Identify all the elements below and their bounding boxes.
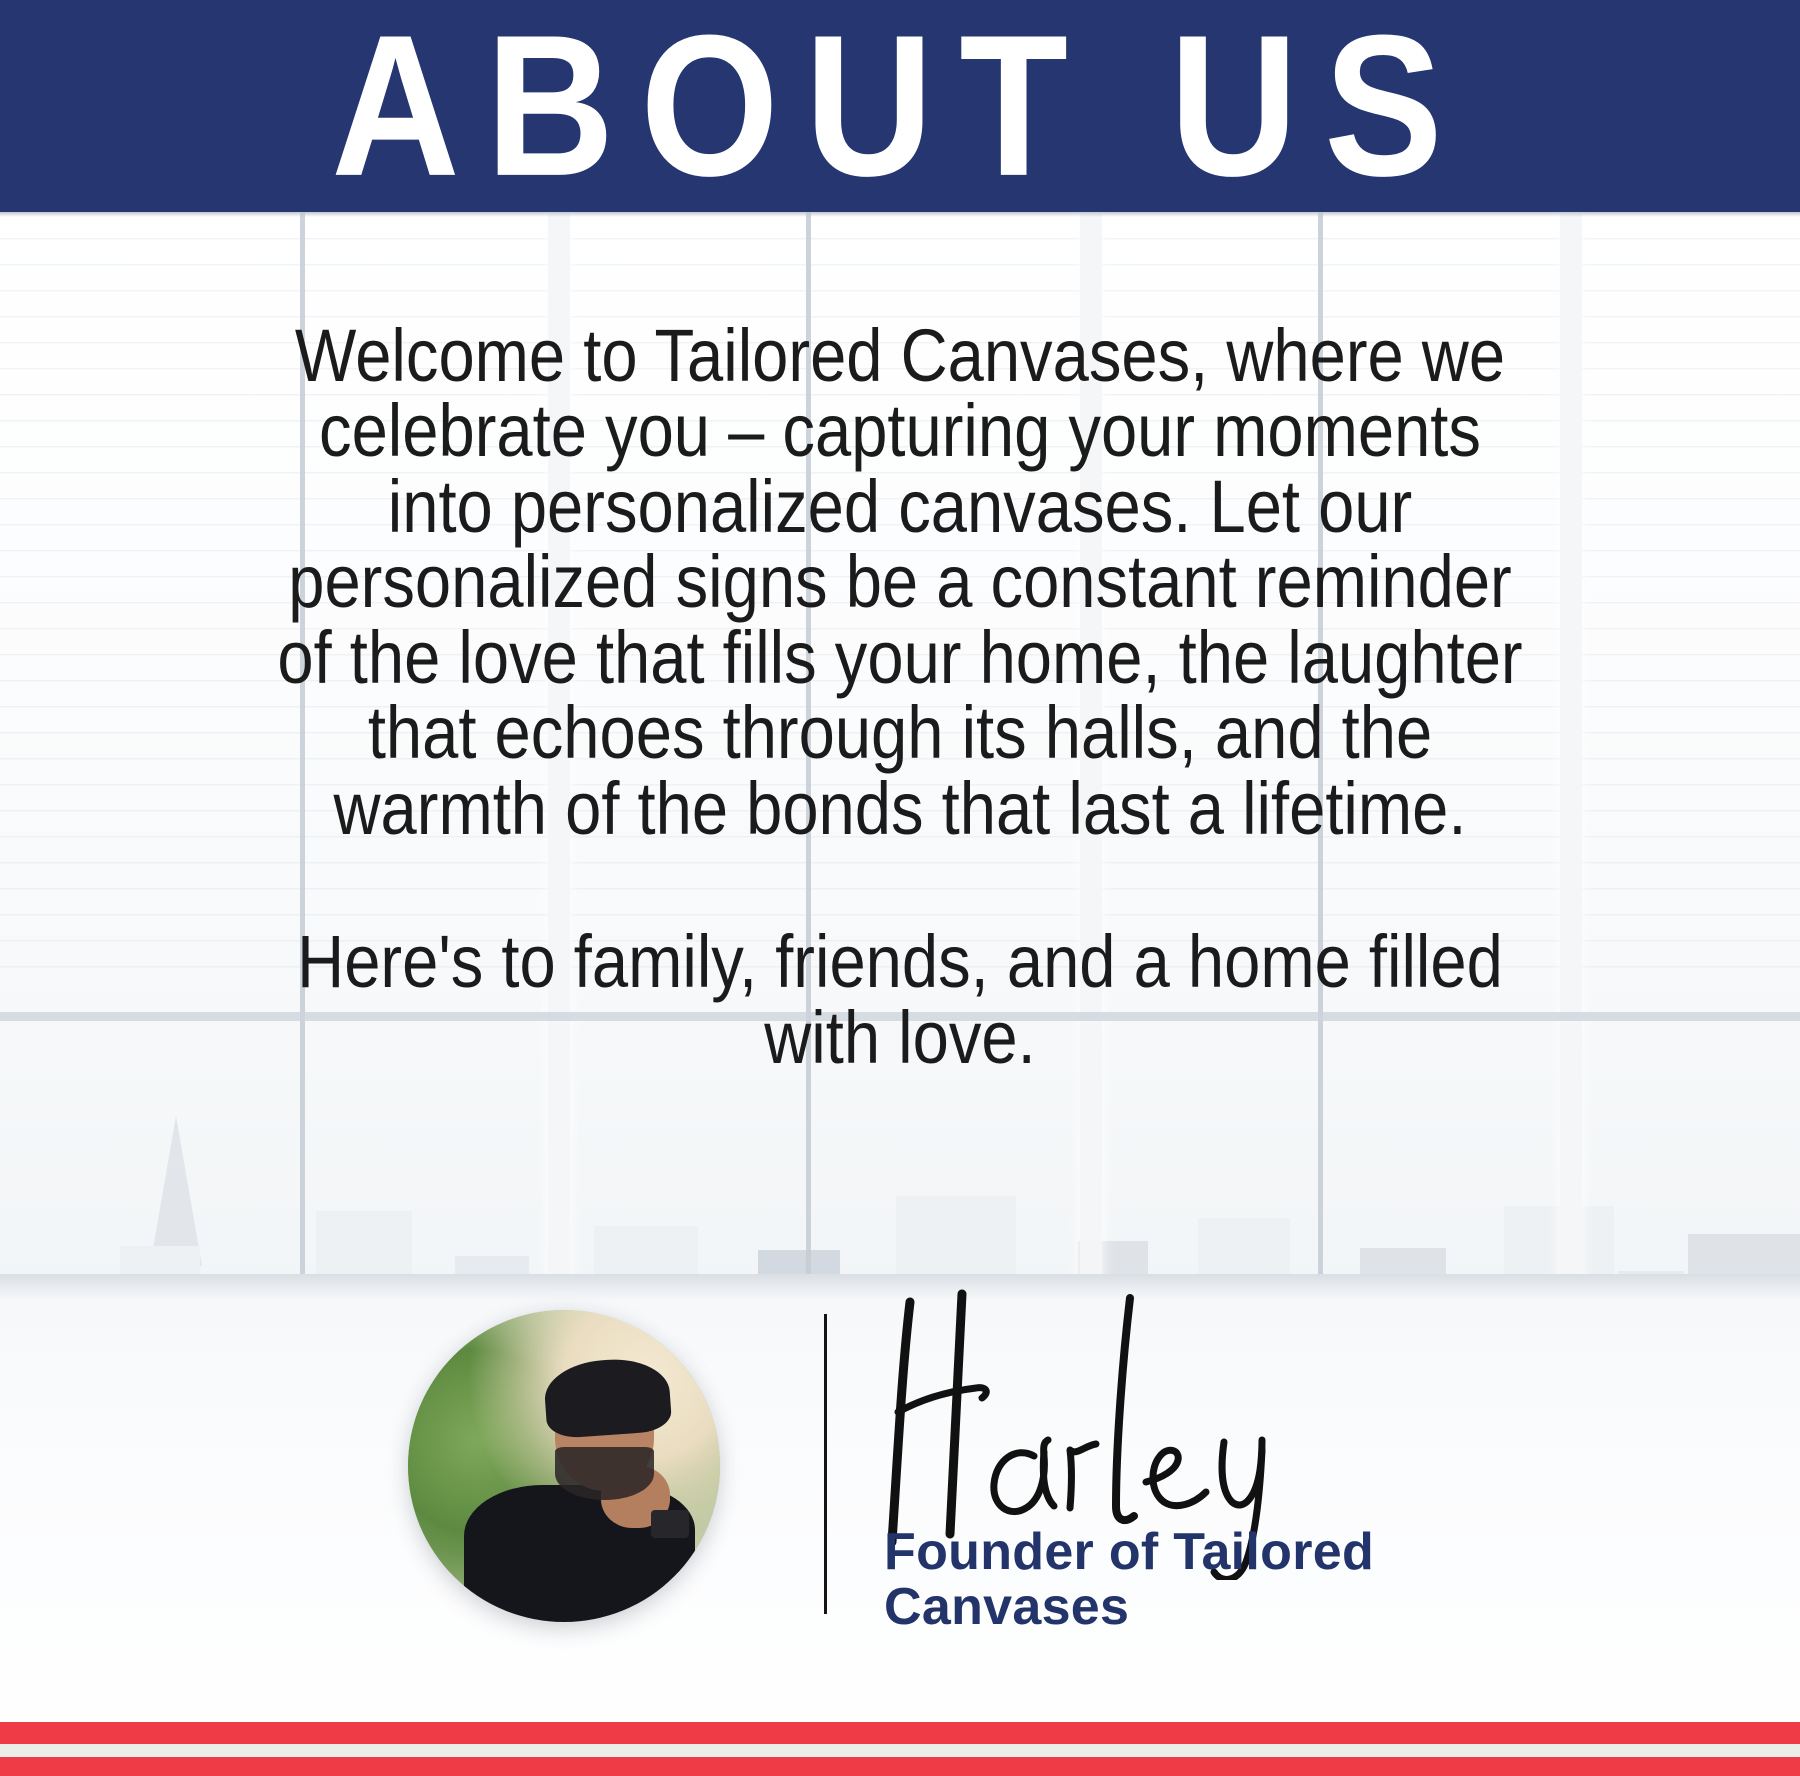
founder-role: Founder of Tailored Canvases	[884, 1525, 1504, 1635]
avatar-watch	[651, 1510, 688, 1538]
founder-role-line2: Canvases	[884, 1580, 1504, 1635]
about-paragraph-2: Here's to family, friends, and a home fi…	[275, 924, 1525, 1075]
header-underline	[0, 212, 1800, 217]
founder-role-line1: Founder of Tailored	[884, 1525, 1504, 1580]
about-paragraph-1: Welcome to Tailored Canvases, where we c…	[275, 318, 1525, 846]
signature-block: Founder of Tailored Canvases	[0, 1290, 1800, 1690]
about-body-text: Welcome to Tailored Canvases, where we c…	[190, 318, 1610, 1075]
avatar	[408, 1310, 720, 1622]
signature-divider	[824, 1314, 827, 1614]
footer-stripe-top	[0, 1722, 1800, 1744]
about-us-poster: ABOUT US Welcome to Tailored Canvases, w…	[0, 0, 1800, 1776]
footer-stripe-gap	[0, 1744, 1800, 1757]
footer-stripe-bottom	[0, 1757, 1800, 1776]
header-band: ABOUT US	[0, 0, 1800, 212]
paragraph-spacer	[190, 846, 1610, 924]
page-title: ABOUT US	[0, 0, 1800, 226]
